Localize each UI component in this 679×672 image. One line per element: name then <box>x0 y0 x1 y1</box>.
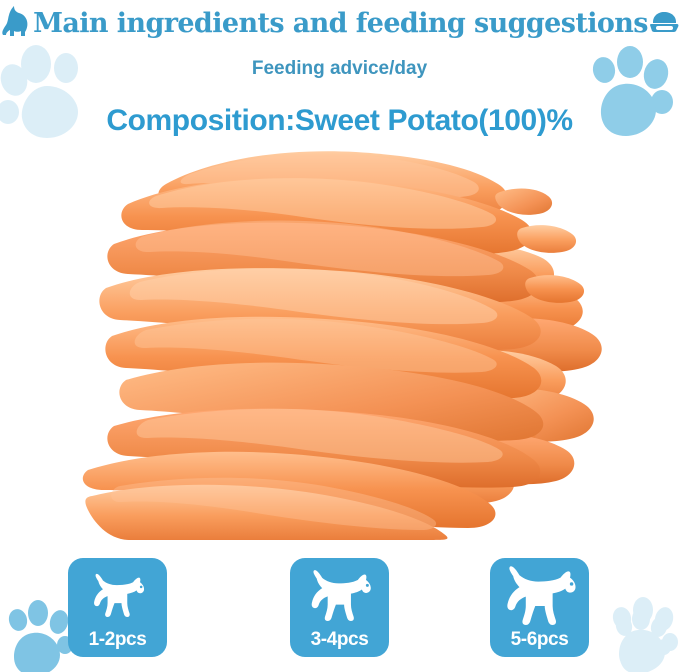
potato-sticks-front <box>83 151 543 540</box>
food-bowl-icon <box>649 6 679 41</box>
infographic-page: Main ingredients and feeding suggestions… <box>0 0 679 672</box>
page-title: Main ingredients and feeding suggestions <box>0 2 679 44</box>
feeding-card-label: 3-4pcs <box>290 629 389 651</box>
feeding-card-small-dog[interactable]: 1-2pcs <box>68 558 167 657</box>
page-title-text: Main ingredients and feeding suggestions <box>33 10 648 37</box>
feeding-card-large-dog[interactable]: 5-6pcs <box>490 558 589 657</box>
feeding-card-medium-dog[interactable]: 3-4pcs <box>290 558 389 657</box>
composition-text: Composition:Sweet Potato(100)% <box>0 104 679 138</box>
product-photo-sweet-potato-sticks <box>70 140 615 540</box>
dog-large-icon <box>490 564 589 626</box>
dog-medium-icon <box>290 564 389 626</box>
dog-small-icon <box>68 564 167 626</box>
feeding-card-label: 1-2pcs <box>68 629 167 651</box>
sitting-dog-icon <box>0 4 32 43</box>
feeding-cards-row: 1-2pcs 3-4pcs 5-6pcs <box>0 558 679 660</box>
subtitle-feeding-advice: Feeding advice/day <box>0 58 679 80</box>
feeding-card-label: 5-6pcs <box>490 629 589 651</box>
